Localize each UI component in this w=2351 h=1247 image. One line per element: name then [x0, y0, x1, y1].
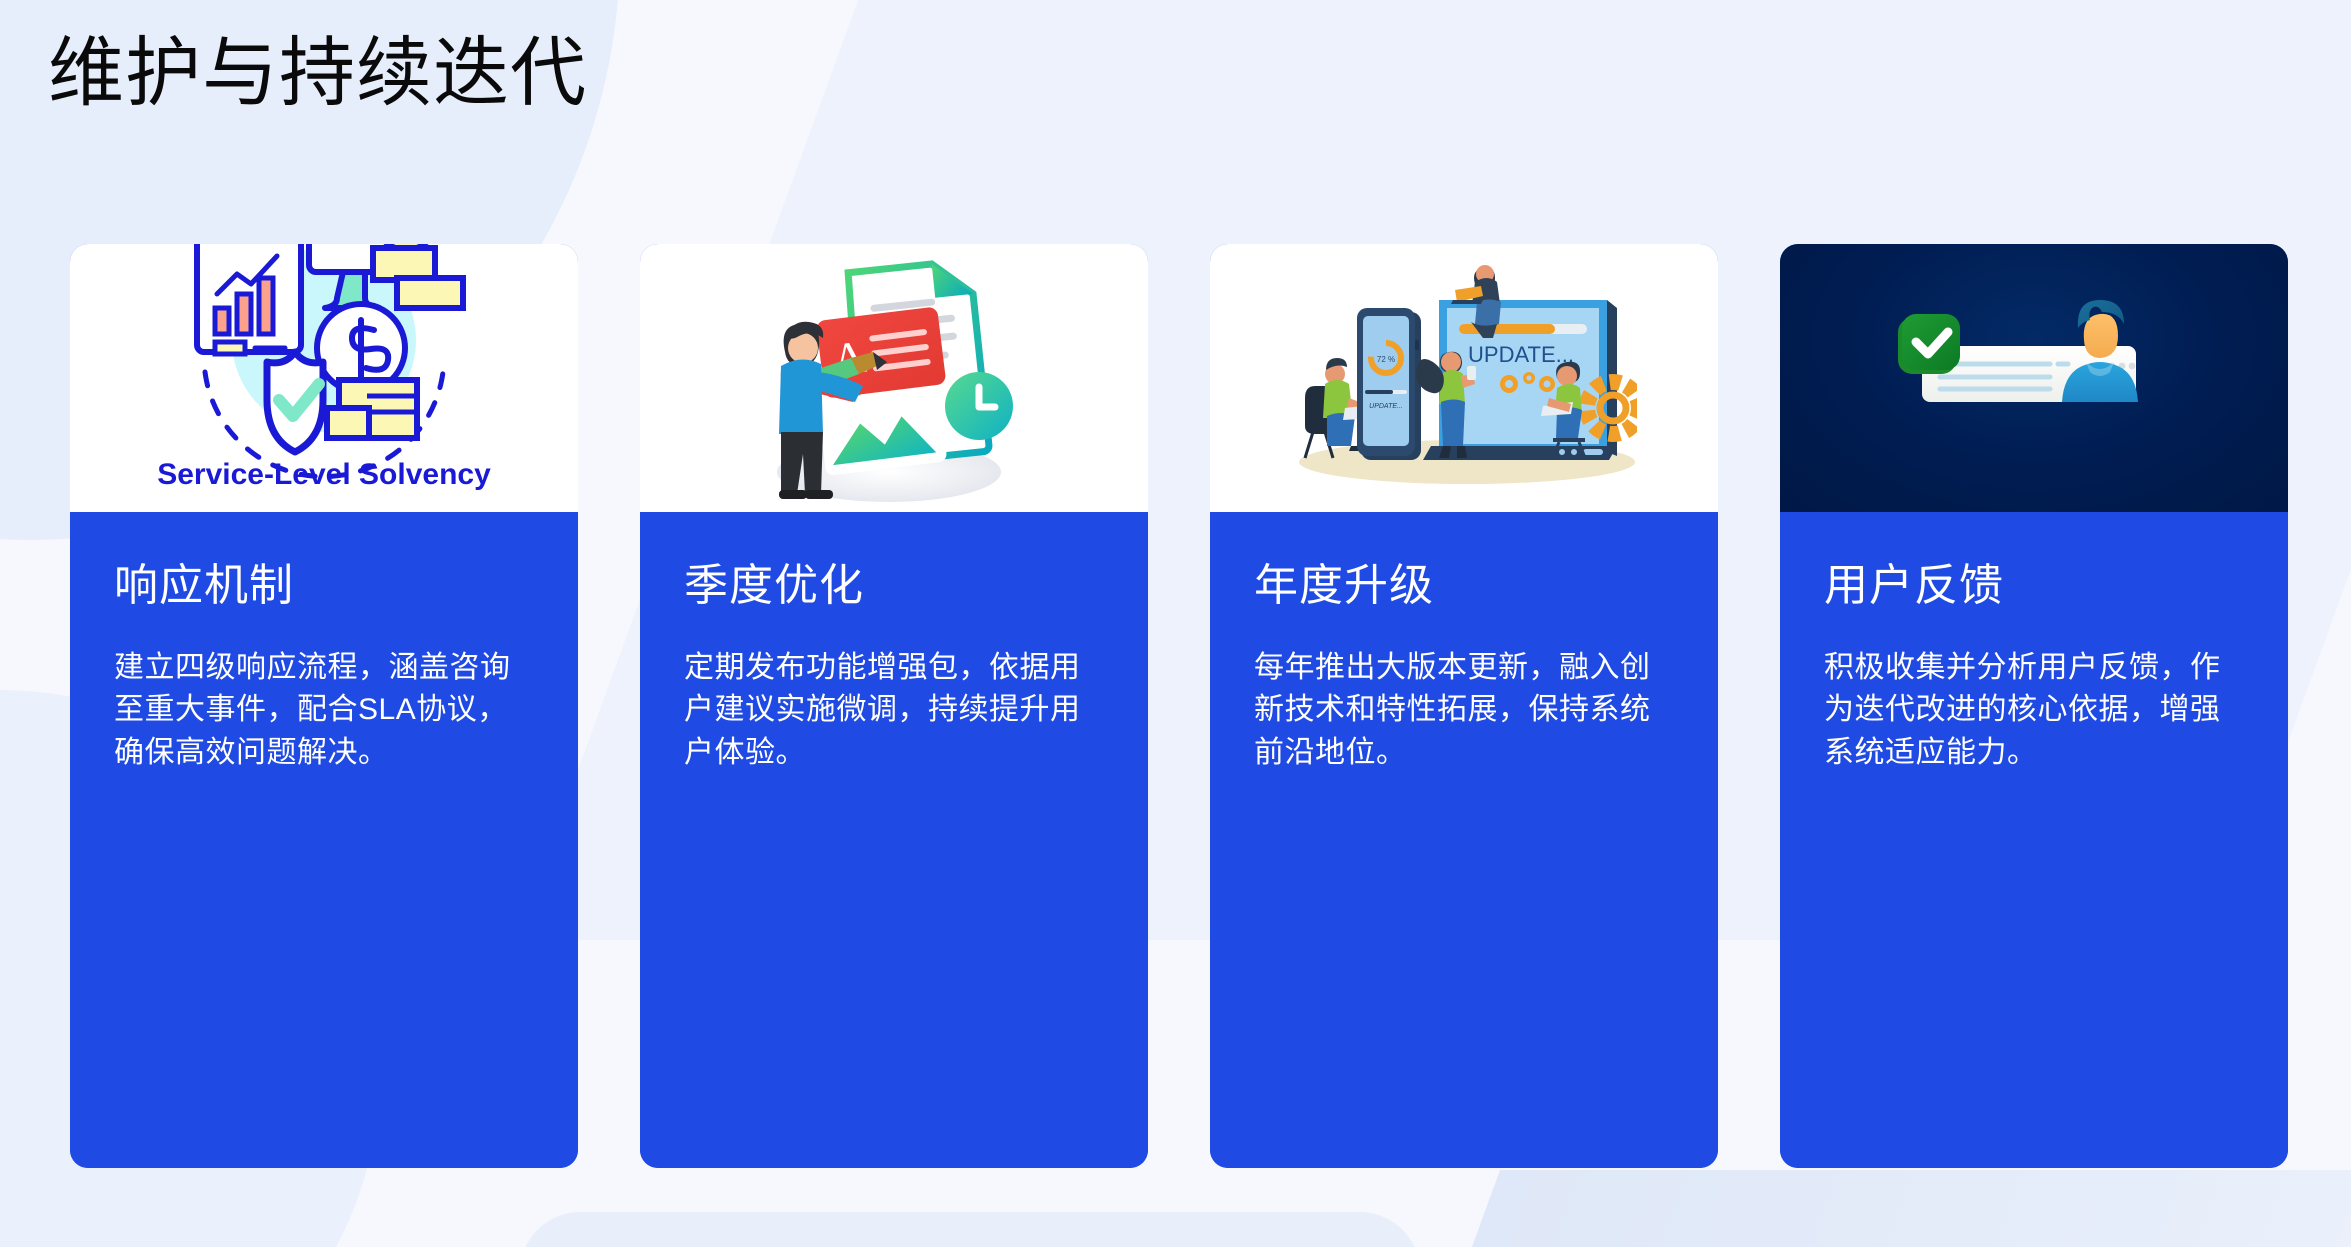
card-body-3: 年度升级 每年推出大版本更新，融入创新技术和特性拓展，保持系统前沿地位。	[1210, 512, 1718, 1168]
card-media-2: A	[640, 244, 1148, 512]
card-description: 定期发布功能增强包，依据用户建议实施微调，持续提升用户体验。	[684, 647, 1104, 775]
document-editing-illustration: A	[640, 244, 1148, 512]
phone-update-label: UPDATE...	[1369, 403, 1403, 410]
smartphone: 72 % UPDATE...	[1357, 308, 1421, 460]
card-response-mechanism[interactable]: Service-Level Solvency 响应机制 建立四级响应流程，涵盖咨…	[70, 244, 578, 1168]
card-grid: Service-Level Solvency 响应机制 建立四级响应流程，涵盖咨…	[70, 244, 2288, 1168]
user-feedback-illustration	[1780, 244, 2288, 512]
clock-badge	[945, 372, 1013, 440]
card-title: 响应机制	[114, 560, 534, 613]
background-band-bottom-center	[520, 1212, 1420, 1247]
shield-check-icon	[267, 352, 323, 452]
money-stack-icon	[327, 380, 417, 438]
card-annual-upgrade[interactable]: 72 % UPDATE... UPDATE...	[1210, 244, 1718, 1168]
card-description: 每年推出大版本更新，融入创新技术和特性拓展，保持系统前沿地位。	[1254, 647, 1674, 775]
card-body-2: 季度优化 定期发布功能增强包，依据用户建议实施微调，持续提升用户体验。	[640, 512, 1148, 1168]
update-devices-illustration: 72 % UPDATE... UPDATE...	[1210, 244, 1718, 512]
card-title: 季度优化	[684, 560, 1104, 613]
feedback-svg	[1854, 244, 2214, 512]
image-card	[817, 386, 947, 476]
card-media-3: 72 % UPDATE... UPDATE...	[1210, 244, 1718, 512]
phone-percent-label: 72 %	[1377, 355, 1395, 364]
money-block-b	[397, 278, 463, 308]
solvency-svg	[159, 244, 489, 492]
page-title: 维护与持续迭代	[48, 26, 587, 121]
illustration-caption: Service-Level Solvency	[70, 457, 578, 494]
service-level-solvency-illustration: Service-Level Solvency	[70, 244, 578, 512]
green-check-badge	[1898, 314, 1960, 374]
card-title: 用户反馈	[1824, 560, 2244, 613]
card-description: 积极收集并分析用户反馈，作为迭代改进的核心依据，增强系统适应能力。	[1824, 647, 2244, 775]
card-body-4: 用户反馈 积极收集并分析用户反馈，作为迭代改进的核心依据，增强系统适应能力。	[1780, 512, 2288, 1168]
slide-canvas: 维护与持续迭代	[0, 0, 2351, 1247]
card-user-feedback[interactable]: 用户反馈 积极收集并分析用户反馈，作为迭代改进的核心依据，增强系统适应能力。	[1780, 244, 2288, 1168]
report-chart-icon	[197, 244, 301, 354]
card-media-1: Service-Level Solvency	[70, 244, 578, 512]
card-title: 年度升级	[1254, 560, 1674, 613]
card-description: 建立四级响应流程，涵盖咨询至重大事件，配合SLA协议，确保高效问题解决。	[114, 647, 534, 775]
card-body-1: 响应机制 建立四级响应流程，涵盖咨询至重大事件，配合SLA协议，确保高效问题解决…	[70, 512, 578, 1168]
editing-svg: A	[729, 244, 1059, 512]
card-quarterly-optimization[interactable]: A	[640, 244, 1148, 1168]
update-svg: 72 % UPDATE... UPDATE...	[1291, 250, 1637, 500]
background-band-bottom-right	[1405, 1170, 2351, 1247]
card-media-4	[1780, 244, 2288, 512]
laptop-update-label: UPDATE...	[1468, 342, 1574, 367]
